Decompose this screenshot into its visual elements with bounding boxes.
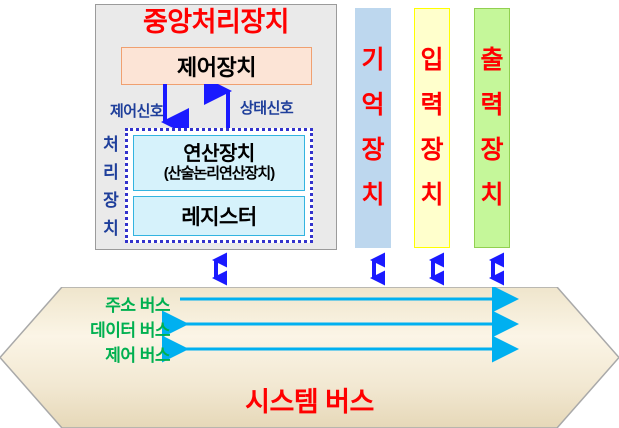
control-unit-label: 제어장치: [177, 50, 256, 82]
memory-unit-char-4: 치: [361, 173, 384, 218]
output-unit-char-2: 력: [480, 83, 503, 128]
input-unit-box: 입력장치: [414, 8, 450, 248]
memory-unit-char-3: 장: [361, 128, 384, 173]
memory-unit-label: 기억장치: [361, 38, 384, 218]
status-signal-label: 상태신호: [240, 97, 293, 118]
alu-label: 연산장치: [183, 143, 255, 165]
cpu-bus-connector-arrow: [205, 252, 227, 286]
output-unit-char-3: 장: [480, 128, 503, 173]
control-unit-box: 제어장치: [121, 47, 312, 85]
memory-unit-box: 기억장치: [355, 8, 391, 248]
input-unit-char-2: 력: [420, 83, 443, 128]
alu-box: 연산장치 (산술논리연산장치): [133, 135, 305, 191]
processing-unit-char-1: 처: [99, 131, 123, 159]
memory-unit-char-2: 억: [361, 83, 384, 128]
cpu-title: 중앙처리장치: [95, 5, 337, 39]
output-bus-connector-arrow: [482, 252, 504, 286]
output-unit-char-1: 출: [480, 38, 503, 83]
control-signal-label: 제어신호: [110, 100, 163, 121]
output-unit-box: 출력장치: [474, 8, 510, 248]
data-bus-label: 데이터 버스: [40, 316, 170, 341]
system-bus-title: 시스템 버스: [0, 380, 619, 419]
input-unit-label: 입력장치: [420, 38, 443, 218]
input-unit-char-1: 입: [420, 38, 443, 83]
alu-sublabel: (산술논리연산장치): [164, 165, 274, 183]
processing-unit-char-2: 리: [99, 159, 123, 187]
input-unit-char-3: 장: [420, 128, 443, 173]
processing-unit-char-4: 치: [99, 215, 123, 243]
input-unit-char-4: 치: [420, 173, 443, 218]
diagram-canvas: 중앙처리장치 제어장치 제어신호 상태신호 처 리 장 치 연산장치 (산술논리…: [0, 0, 619, 428]
memory-bus-connector-arrow: [363, 252, 385, 286]
output-unit-label: 출력장치: [480, 38, 503, 218]
processing-unit-char-3: 장: [99, 187, 123, 215]
address-bus-label: 주소 버스: [40, 291, 170, 316]
processing-unit-label: 처 리 장 치: [99, 131, 123, 243]
control-bus-label: 제어 버스: [40, 341, 170, 366]
register-box: 레지스터: [133, 196, 305, 236]
register-label: 레지스터: [181, 201, 256, 231]
output-unit-char-4: 치: [480, 173, 503, 218]
input-bus-connector-arrow: [422, 252, 444, 286]
memory-unit-char-1: 기: [361, 38, 384, 83]
